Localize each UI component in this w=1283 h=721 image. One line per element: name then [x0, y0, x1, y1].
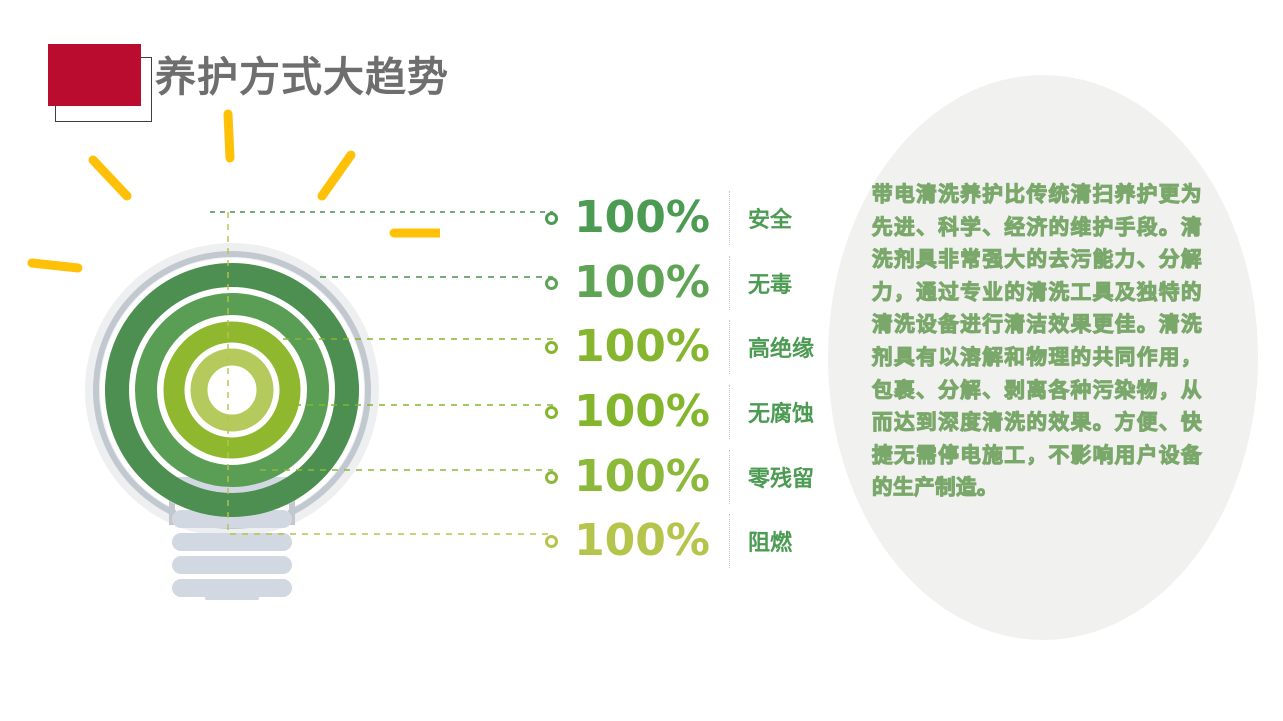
stat-row-2[interactable]: 100% 无毒 [545, 253, 792, 313]
stat-divider-1 [729, 191, 730, 245]
description-text: 带电清洗养护比传统清扫养护更为先进、科学、经济的维护手段。清洗剂具非常强大的去污… [872, 178, 1202, 504]
connector-dot-icon-5 [545, 471, 558, 484]
stat-divider-5 [729, 450, 730, 504]
stat-value-3: 100% [570, 325, 710, 369]
stat-value-1: 100% [570, 196, 710, 240]
slide-canvas: 养护方式大趋势 [0, 0, 1283, 721]
stat-label-1: 安全 [748, 202, 792, 234]
connector-dot-icon-6 [545, 535, 558, 548]
stat-row-3[interactable]: 100% 高绝缘 [545, 317, 814, 377]
connector-dot-icon-3 [545, 341, 558, 354]
connector-dot-icon-4 [545, 406, 558, 419]
stat-value-5: 100% [570, 455, 710, 499]
stat-value-4: 100% [570, 390, 710, 434]
stat-divider-4 [729, 385, 730, 439]
stat-label-3: 高绝缘 [748, 331, 814, 363]
stat-row-1[interactable]: 100% 安全 [545, 188, 792, 248]
stat-label-4: 无腐蚀 [748, 396, 814, 428]
stat-value-6: 100% [570, 519, 710, 563]
stat-label-2: 无毒 [748, 267, 792, 299]
stat-divider-3 [729, 320, 730, 374]
stat-label-5: 零残留 [748, 461, 814, 493]
connector-dot-icon-2 [545, 277, 558, 290]
stat-row-4[interactable]: 100% 无腐蚀 [545, 382, 814, 442]
stat-row-6[interactable]: 100% 阻燃 [545, 511, 792, 571]
stats-list: 100% 安全 100% 无毒 100% 高绝缘 100% 无腐蚀 100% [545, 170, 835, 580]
stat-label-6: 阻燃 [748, 525, 792, 557]
stat-divider-6 [729, 514, 730, 568]
stat-value-2: 100% [570, 261, 710, 305]
connector-dot-icon-1 [545, 212, 558, 225]
stat-row-5[interactable]: 100% 零残留 [545, 447, 814, 507]
stat-divider-2 [729, 256, 730, 310]
